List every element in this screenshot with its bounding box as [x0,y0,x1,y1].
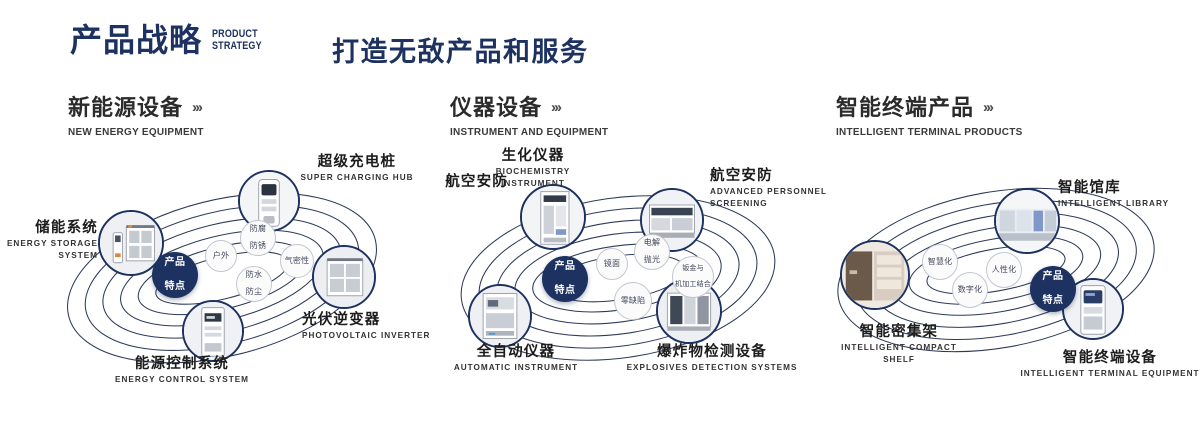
core-bubble-product-features[interactable]: 产品 特点 [542,256,588,302]
node-label-cn: 储能系统 [2,220,98,237]
cluster-new-energy: 储能系统 ENERGY STORAGE SYSTEM 超级充电桩 SUPER C… [40,160,430,400]
core-label-line2: 特点 [1043,295,1064,307]
core-label-line1: 产品 [165,257,186,269]
section-title-new-energy: 新能源设备 ››› NEW ENERGY EQUIPMENT [68,96,211,138]
node-label-cn: 智能密集架 [814,324,984,341]
feature-line2: 机加工结合 [675,281,711,289]
node-label-en-line1: INTELLIGENT TERMINAL EQUIPMENT [1010,369,1200,380]
feature-line1: 镜面 [604,260,620,269]
page-title-en: PRODUCT STRATEGY [212,29,262,56]
core-label-line1: 产品 [1043,271,1064,283]
feature-bubble-airtightness[interactable]: 气密性 [280,244,314,278]
feature-bubble-humanized[interactable]: 人性化 [986,252,1022,288]
feature-bubble-zero-defect[interactable]: 零缺陷 [614,282,652,320]
node-label-en-line1: BIOCHEMISTRY [468,167,598,178]
section-title-cn: 智能终端产品 ››› [836,96,1032,120]
feature-line2: 抛光 [644,256,660,265]
chevron-right-icon: ››› [983,100,992,117]
node-biochemistry-instrument[interactable] [520,184,586,250]
feature-bubble-outdoor[interactable]: 户外 [205,240,237,272]
feature-bubble-waterproof[interactable]: 防水 防尘 [236,266,272,302]
compact-shelf-photo [842,242,908,308]
inverter-photo [314,247,374,307]
cluster-intelligent-terminal: 智能馆库 INTELLIGENT LIBRARY 智能密集架 INTELLIGE… [818,160,1198,400]
feature-bubble-sheetmetal-machining[interactable]: 钣金与 机加工结合 [672,256,714,298]
label-biochemistry-instrument: 生化仪器 BIOCHEMISTRY INSTRUMENT [468,148,598,190]
node-label-en-line1: INTELLIGENT COMPACT [814,343,984,354]
poster-canvas: 产品战略 PRODUCT STRATEGY 打造无敌产品和服务 新能源设备 ››… [0,0,1200,422]
node-intelligent-compact-shelf[interactable] [840,240,910,310]
node-label-en-line2: INSTRUMENT [468,179,598,190]
node-label-en-line1: ENERGY STORAGE [2,239,98,250]
section-title-en: INSTRUMENT AND EQUIPMENT [450,126,608,138]
automatic-instrument-photo [470,286,530,346]
section-title-cn: 新能源设备 ››› [68,96,211,120]
page-title: 产品战略 PRODUCT STRATEGY [70,24,273,56]
page-subtitle: 打造无敌产品和服务 [332,30,589,69]
node-label-cn: 爆炸物检测设备 [612,344,812,361]
label-intelligent-compact-shelf: 智能密集架 INTELLIGENT COMPACT SHELF [814,324,984,366]
node-label-cn: 生化仪器 [468,148,598,165]
feature-line1: 电解 [644,239,660,248]
section-title-en: INTELLIGENT TERMINAL PRODUCTS [836,126,1023,138]
node-label-cn: 超级充电桩 [282,154,432,171]
intelligent-library-photo [996,190,1058,252]
energy-storage-photo [100,212,162,274]
feature-bubble-anticorrosion[interactable]: 防腐 防锈 [240,220,276,256]
node-label-en-line1: EXPLOSIVES DETECTION SYSTEMS [612,363,812,374]
label-intelligent-library: 智能馆库 INTELLIGENT LIBRARY [1058,180,1200,209]
biochemistry-photo [522,186,584,248]
feature-line2: 防尘 [246,288,262,297]
core-bubble-product-features[interactable]: 产品 特点 [152,252,198,298]
section-title-en: NEW ENERGY EQUIPMENT [68,126,204,138]
feature-line1: 智慧化 [928,258,953,267]
control-system-photo [184,302,242,360]
feature-line1: 防水 [246,271,262,280]
feature-line1: 防腐 [250,225,266,234]
core-bubble-product-features[interactable]: 产品 特点 [1030,266,1076,312]
node-label-en-line1: AUTOMATIC INSTRUMENT [426,363,606,374]
feature-line1: 人性化 [992,266,1017,275]
label-energy-storage-system: 储能系统 ENERGY STORAGE SYSTEM [2,220,98,262]
chevron-right-icon: ››› [551,100,560,117]
section-title-cn: 仪器设备 ››› [450,96,617,120]
node-photovoltaic-inverter[interactable] [312,245,376,309]
feature-bubble-digital[interactable]: 数字化 [952,272,988,308]
node-label-en-line2: SYSTEM [2,251,98,262]
node-label-en-line1: INTELLIGENT LIBRARY [1058,199,1200,210]
label-explosives-detection: 爆炸物检测设备 EXPLOSIVES DETECTION SYSTEMS [612,344,812,373]
label-automatic-instrument: 全自动仪器 AUTOMATIC INSTRUMENT [426,344,606,373]
feature-line1: 气密性 [285,257,310,266]
feature-bubble-electropolishing[interactable]: 电解 抛光 [634,234,670,270]
node-label-cn: 智能终端设备 [1010,350,1200,367]
node-energy-control-system[interactable] [182,300,244,362]
node-label-cn: 能源控制系统 [82,356,282,373]
node-automatic-instrument[interactable] [468,284,532,348]
section-label: 智能终端产品 [836,96,974,120]
feature-bubble-smart[interactable]: 智慧化 [922,244,958,280]
label-intelligent-terminal-equipment: 智能终端设备 INTELLIGENT TERMINAL EQUIPMENT [1010,350,1200,379]
feature-line1: 零缺陷 [621,297,646,306]
chevron-right-icon: ››› [192,100,201,117]
feature-line1: 数字化 [958,286,983,295]
feature-line1: 户外 [213,252,229,261]
page-title-en-line2: STRATEGY [212,41,262,53]
node-label-cn: 智能馆库 [1058,180,1200,197]
section-label: 新能源设备 [68,96,183,120]
feature-line1: 钣金与 [675,265,711,273]
core-label-line2: 特点 [165,281,186,293]
core-label-line2: 特点 [555,285,576,297]
node-label-en-line2: SHELF [814,355,984,366]
node-label-en-line1: ENERGY CONTROL SYSTEM [82,375,282,386]
section-label: 仪器设备 [450,96,542,120]
cluster-instrument: 航空安防 生化仪器 BIOCHEMISTRY INSTRUMENT [432,160,812,400]
node-intelligent-library[interactable] [994,188,1060,254]
feature-line2: 防锈 [250,242,266,251]
label-energy-control-system: 能源控制系统 ENERGY CONTROL SYSTEM [82,356,282,385]
node-label-cn: 全自动仪器 [426,344,606,361]
section-title-intelligent-terminal: 智能终端产品 ››› INTELLIGENT TERMINAL PRODUCTS [836,96,1032,138]
section-title-instrument: 仪器设备 ››› INSTRUMENT AND EQUIPMENT [450,96,617,138]
feature-bubble-mirror-finish[interactable]: 镜面 [596,248,628,280]
page-title-cn: 产品战略 [70,24,202,56]
core-label-line1: 产品 [555,261,576,273]
